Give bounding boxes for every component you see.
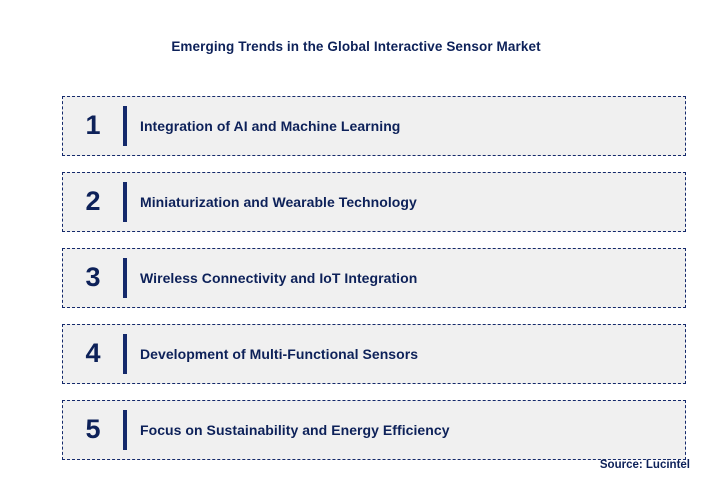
trend-label: Focus on Sustainability and Energy Effic… <box>127 422 685 438</box>
trend-label: Miniaturization and Wearable Technology <box>127 194 685 210</box>
trend-label: Integration of AI and Machine Learning <box>127 118 685 134</box>
trend-label: Wireless Connectivity and IoT Integratio… <box>127 270 685 286</box>
page-title: Emerging Trends in the Global Interactiv… <box>0 39 712 54</box>
trend-list: 1 Integration of AI and Machine Learning… <box>62 96 686 460</box>
list-item: 3 Wireless Connectivity and IoT Integrat… <box>62 248 686 308</box>
trend-number: 3 <box>63 264 123 293</box>
list-item: 2 Miniaturization and Wearable Technolog… <box>62 172 686 232</box>
trend-number: 2 <box>63 188 123 217</box>
infographic-canvas: Emerging Trends in the Global Interactiv… <box>0 0 712 501</box>
trend-number: 1 <box>63 112 123 141</box>
list-item: 4 Development of Multi-Functional Sensor… <box>62 324 686 384</box>
list-item: 5 Focus on Sustainability and Energy Eff… <box>62 400 686 460</box>
list-item: 1 Integration of AI and Machine Learning <box>62 96 686 156</box>
source-attribution: Source: Lucintel <box>600 459 690 471</box>
trend-label: Development of Multi-Functional Sensors <box>127 346 685 362</box>
trend-number: 4 <box>63 340 123 369</box>
trend-number: 5 <box>63 416 123 445</box>
